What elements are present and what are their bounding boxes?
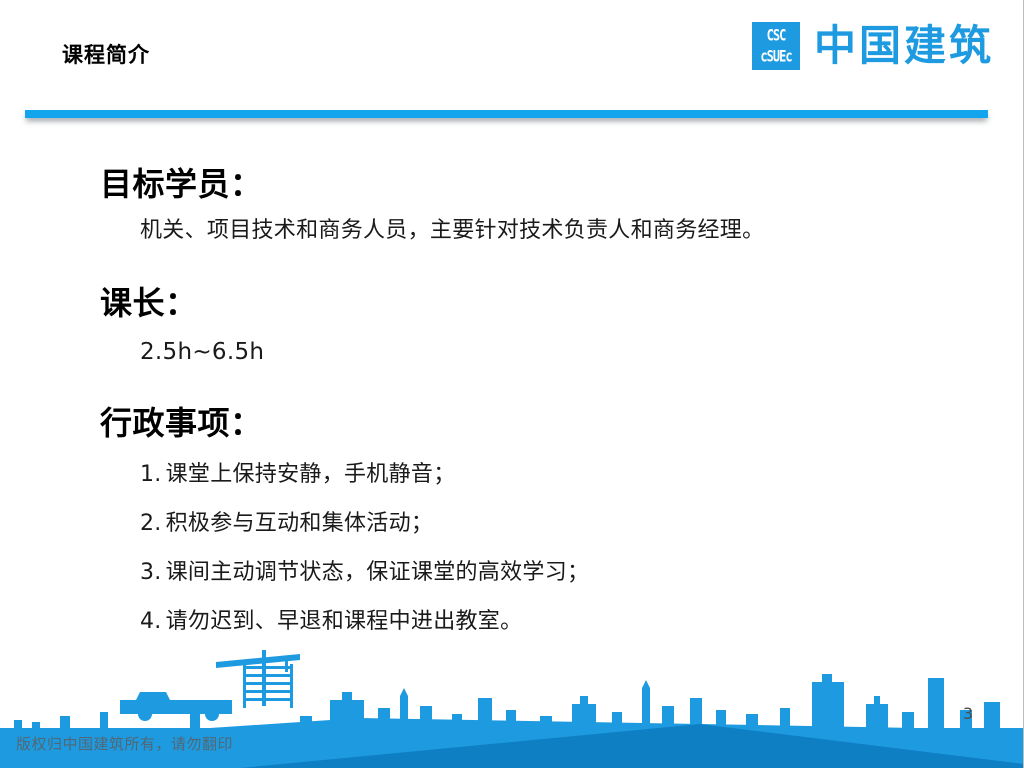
- list-item-number: 4.: [140, 609, 162, 634]
- section-paragraph: 机关、项目技术和商务人员，主要针对技术负责人和商务经理。: [0, 217, 1024, 246]
- list-item: 2.积极参与互动和集体活动；: [0, 513, 1024, 535]
- list-item-number: 3.: [140, 560, 162, 585]
- copyright-notice: 版权归中国建筑所有，请勿翻印: [16, 733, 233, 754]
- section-course-length: 课长： 2.5h~6.5h: [0, 285, 1024, 368]
- logo-mark-bottom-text: cSUEc: [760, 48, 791, 64]
- page-number: 3: [963, 704, 973, 723]
- list-item: 1.课堂上保持安静，手机静音；: [0, 464, 1024, 486]
- brand-name-text: 中国建筑: [814, 25, 994, 67]
- truck-icon: [120, 692, 232, 721]
- page-title: 课程简介: [62, 45, 150, 66]
- section-administrative-items: 行政事项： 1.课堂上保持安静，手机静音； 2.积极参与互动和集体活动； 3.课…: [0, 405, 1024, 633]
- list-item-text: 请勿迟到、早退和课程中进出教室。: [166, 609, 523, 634]
- section-heading: 课长：: [0, 285, 1024, 322]
- slide-body: 目标学员： 机关、项目技术和商务人员，主要针对技术负责人和商务经理。 课长： 2…: [0, 130, 1024, 650]
- logo-mark-top-text: CSC: [767, 27, 786, 43]
- section-heading: 目标学员：: [0, 166, 1024, 203]
- list-item-text: 课间主动调节状态，保证课堂的高效学习；: [166, 560, 590, 585]
- brand-logo: CSC cSUEc 中国建筑: [752, 22, 994, 70]
- section-heading: 行政事项：: [0, 405, 1024, 442]
- crane-icon: [216, 650, 300, 708]
- list-item-number: 1.: [140, 462, 162, 487]
- section-target-trainees: 目标学员： 机关、项目技术和商务人员，主要针对技术负责人和商务经理。: [0, 166, 1024, 245]
- slide-canvas: 课程简介 CSC cSUEc 中国建筑 目标学员： 机关、项目技术和商务人员，主…: [0, 0, 1024, 768]
- list-item-text: 积极参与互动和集体活动；: [166, 511, 434, 536]
- list-item-number: 2.: [140, 511, 162, 536]
- header-divider-bar: [25, 110, 988, 118]
- list-item: 3.课间主动调节状态，保证课堂的高效学习；: [0, 562, 1024, 584]
- cscec-logo-icon: CSC cSUEc: [752, 22, 800, 70]
- list-item: 4.请勿迟到、早退和课程中进出教室。: [0, 611, 1024, 633]
- list-item-text: 课堂上保持安静，手机静音；: [166, 462, 456, 487]
- slide-header: 课程简介 CSC cSUEc 中国建筑: [0, 0, 1024, 130]
- section-paragraph: 2.5h~6.5h: [0, 338, 1024, 368]
